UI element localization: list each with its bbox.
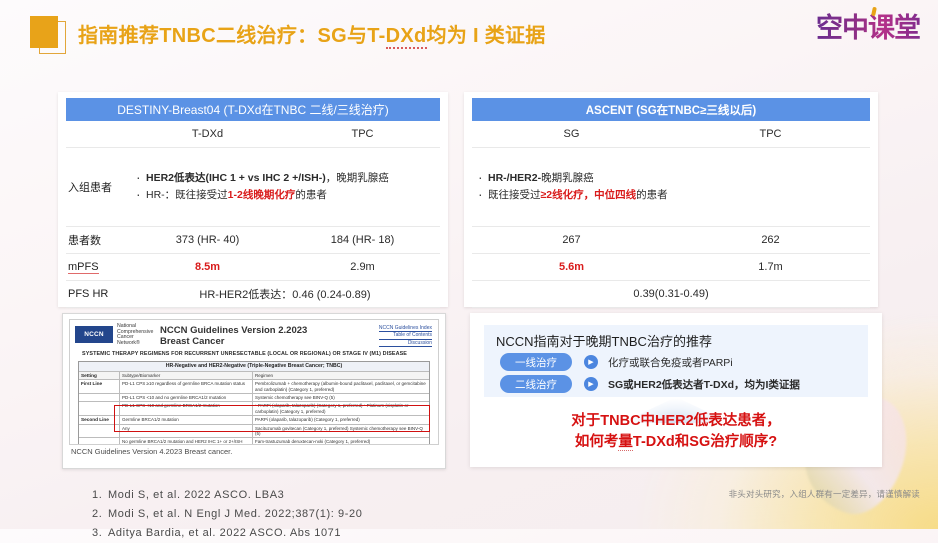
criteria-list: HER2低表达(IHC 1 + vs IHC 2 +/ISH-)，晚期乳腺癌 H… xyxy=(130,168,440,206)
cell-regimen: Systemic chemotherapy see BINV-Q (5) xyxy=(253,394,429,401)
nccn-regimen-table: HR-Negative and HER2-Negative (Triple-Ne… xyxy=(78,361,430,445)
recommendation-panel: NCCN指南对于晚期TNBC治疗的推荐 一线治疗 ▶ 化疗或联合免疫或者PARP… xyxy=(484,325,868,397)
table-row: PD-L1 CPS <10 and germline BRCA1/2 mutat… xyxy=(79,402,429,416)
cell-value-spanning: 0.39(0.31-0.49) xyxy=(472,281,870,307)
pill-second-line[interactable]: 二线治疗 xyxy=(500,375,572,393)
table-row: First Line PD-L1 CPS ≥10 regardless of g… xyxy=(79,380,429,394)
arrow-right-icon: ▶ xyxy=(584,377,598,391)
nccn-doc-title: NCCN Guidelines Version 2.2023 Breast Ca… xyxy=(160,325,307,347)
criteria-tail: 的患者 xyxy=(636,189,668,201)
list-item: HR-：既往接受过1-2线晚期化疗的患者 xyxy=(134,187,440,204)
criteria-bold-lead: HR-/HER2- xyxy=(488,172,541,184)
list-item: 1.Modi S, et al. 2022 ASCO. LBA3 xyxy=(92,486,512,505)
recommendation-text-second-line: SG或HER2低表达者T-DXd，均为I类证据 xyxy=(608,377,800,392)
cell-value: 373 (HR- 40) xyxy=(130,227,285,253)
disclaimer-text: 非头对头研究，入组人群有一定差异，请谨慎解读 xyxy=(729,488,920,500)
cell-value: 184 (HR- 18) xyxy=(285,227,440,253)
table-row: HR-/HER2-晚期乳腺癌 既往接受过≥2线化疗，中位四线的患者 xyxy=(472,148,870,227)
slide-root: 指南推荐TNBC二线治疗：SG与T-DXd均为 I 类证据 空中课堂 DESTI… xyxy=(0,0,938,529)
criteria-label: 入组患者 xyxy=(66,152,130,222)
cell-regimen: Pembrolizumab + chemotherapy (albumin-bo… xyxy=(253,380,429,393)
row-label-patients: 患者数 xyxy=(66,227,130,253)
cell-setting: First Line xyxy=(79,380,120,393)
cell-biomarker: No germline BRCA1/2 mutation and HER2 IH… xyxy=(120,438,253,445)
row-label-mpfs: mPFS xyxy=(66,254,130,280)
table-row: T-DXd TPC xyxy=(66,121,440,148)
key-question-line2-post: T-DXd和SG治疗顺序? xyxy=(633,434,777,450)
table-row: HR-Negative and HER2-Negative (Triple-Ne… xyxy=(79,362,429,372)
criteria-rest: 晚期乳腺癌 xyxy=(541,172,594,184)
cell-setting xyxy=(79,402,120,415)
logo-text: 空中课堂 xyxy=(816,6,924,50)
table-header-destiny: DESTINY-Breast04 (T-DXd在TNBC 二线/三线治疗) xyxy=(66,98,440,121)
nccn-section-banner: SYSTEMIC THERAPY REGIMENS FOR RECURRENT … xyxy=(82,351,430,357)
key-question-line2-pre: 如何考 xyxy=(575,434,619,450)
arrow-right-icon: ▶ xyxy=(584,355,598,369)
reference-text: Modi S, et al. N Engl J Med. 2022;387(1)… xyxy=(108,508,362,520)
nccn-guideline-screenshot: NCCN NationalComprehensiveCancerNetwork®… xyxy=(62,313,446,469)
table-row: PD-L1 CPS <10 and no germline BRCA1/2 mu… xyxy=(79,394,429,402)
list-item: 3.Aditya Bardia, et al. 2022 ASCO. Abs 1… xyxy=(92,524,512,543)
page-title-part2: 均为 I 类证据 xyxy=(427,25,546,47)
cell-biomarker: PD-L1 CPS <10 and no germline BRCA1/2 mu… xyxy=(120,394,253,401)
cell-setting xyxy=(79,425,120,438)
reference-list: 1.Modi S, et al. 2022 ASCO. LBA3 2.Modi … xyxy=(52,486,512,543)
cell-regimen: • PARPi (olaparib, talazoparib) (Categor… xyxy=(253,402,429,415)
nccn-link-index[interactable]: NCCN Guidelines Index xyxy=(379,325,432,332)
nccn-logo: NCCN xyxy=(75,326,113,343)
arm-header-1: T-DXd xyxy=(130,121,285,147)
nccn-link-discussion[interactable]: Discussion xyxy=(379,340,432,347)
table-row: Setting Subtype/Biomarker Regimen xyxy=(79,372,429,380)
table-row: PFS HR HR-HER2低表达：0.46 (0.24-0.89) xyxy=(66,281,440,308)
table-body-destiny: T-DXd TPC 入组患者 HER2低表达(IHC 1 + vs IHC 2 … xyxy=(66,121,440,334)
table-row: No germline BRCA1/2 mutation and HER2 IH… xyxy=(79,438,429,445)
criteria-list: HR-/HER2-晚期乳腺癌 既往接受过≥2线化疗，中位四线的患者 xyxy=(472,168,870,206)
table-row: 患者数 373 (HR- 40) 184 (HR- 18) xyxy=(66,227,440,254)
nccn-doc-title-line2: Breast Cancer xyxy=(160,336,224,347)
nccn-org-name: NationalComprehensiveCancerNetwork® xyxy=(117,324,153,346)
page-title-part1: 指南推荐TNBC二线治疗：SG与T- xyxy=(78,25,386,47)
table-row: 入组患者 HER2低表达(IHC 1 + vs IHC 2 +/ISH-)，晚期… xyxy=(66,148,440,227)
key-question: 对于TNBC中HER2低表达患者， 如何考量T-DXd和SG治疗顺序? xyxy=(470,411,882,453)
nccn-document-page: NCCN NationalComprehensiveCancerNetwork®… xyxy=(69,319,439,445)
cell-regimen: Fam-trastuzumab deruxtecan-nxki (Categor… xyxy=(253,438,429,445)
slide-header: 指南推荐TNBC二线治疗：SG与T-DXd均为 I 类证据 空中课堂 xyxy=(0,0,938,62)
recommendation-text-first-line: 化疗或联合免疫或者PARPi xyxy=(608,355,733,370)
criteria-plain-lead: HR-：既往接受过 xyxy=(146,189,228,201)
recommendation-title: NCCN指南对于晚期TNBC治疗的推荐 xyxy=(496,331,712,350)
list-item: HER2低表达(IHC 1 + vs IHC 2 +/ISH-)，晚期乳腺癌 xyxy=(134,170,440,187)
table-destiny-breast04: DESTINY-Breast04 (T-DXd在TNBC 二线/三线治疗) T-… xyxy=(58,92,448,307)
cell-value-spanning: HR-HER2低表达：0.46 (0.24-0.89) xyxy=(130,281,440,307)
table-body-ascent: SG TPC HR-/HER2-晚期乳腺癌 既往接受过≥2线化疗，中位四线的患者… xyxy=(472,121,870,334)
row-label-pfs-hr: PFS HR xyxy=(66,281,130,307)
cell-biomarker: PD-L1 CPS ≥10 regardless of germline BRC… xyxy=(120,380,253,393)
cell-biomarker: PD-L1 CPS <10 and germline BRCA1/2 mutat… xyxy=(120,402,253,415)
table-row: 267 262 xyxy=(472,227,870,254)
nccn-doc-title-line1: NCCN Guidelines Version 2.2023 xyxy=(160,325,307,336)
criteria-highlight: 1-2线晚期化疗 xyxy=(228,189,296,201)
cell-setting xyxy=(79,394,120,401)
brand-logo: 空中课堂 xyxy=(816,6,924,52)
cell-setting xyxy=(79,438,120,445)
square-filled-shape xyxy=(30,16,58,48)
cell-value-highlight: 8.5m xyxy=(130,254,285,280)
list-item: 既往接受过≥2线化疗，中位四线的患者 xyxy=(476,187,870,204)
key-question-line2-underlined: 量 xyxy=(618,434,633,451)
reference-text: Modi S, et al. 2022 ASCO. LBA3 xyxy=(108,489,284,501)
reference-number: 3. xyxy=(92,524,108,543)
table-row: 5.6m 1.7m xyxy=(472,254,870,281)
table-row: Second Line Germline BRCA1/2 mutation PA… xyxy=(79,416,429,424)
arm-header-2: TPC xyxy=(671,121,870,147)
criteria-tail: 的患者 xyxy=(295,189,327,201)
table-ascent: ASCENT (SG在TNBC≥三线以后) SG TPC HR-/HER2-晚期… xyxy=(464,92,878,307)
nccn-table-title: HR-Negative and HER2-Negative (Triple-Ne… xyxy=(79,362,429,371)
cell-value: 262 xyxy=(671,227,870,253)
table-row: 0.39(0.31-0.49) xyxy=(472,281,870,308)
col-header-biomarker: Subtype/Biomarker xyxy=(120,372,253,379)
arm-header-2: TPC xyxy=(285,121,440,147)
cell-value: 1.7m xyxy=(671,254,870,280)
title-square-marker-icon xyxy=(30,16,64,52)
cell-setting: Second Line xyxy=(79,416,120,423)
cell-value: 267 xyxy=(472,227,671,253)
cell-regimen: Sacituzumab govitecan (Category 1, prefe… xyxy=(253,425,429,438)
criteria-rest: ，晚期乳腺癌 xyxy=(326,172,389,184)
nccn-caption: NCCN Guidelines Version 4.2023 Breast ca… xyxy=(71,447,232,456)
page-title: 指南推荐TNBC二线治疗：SG与T-DXd均为 I 类证据 xyxy=(78,19,546,48)
table-row: mPFS 8.5m 2.9m xyxy=(66,254,440,281)
cell-biomarker: Any xyxy=(120,425,253,438)
pill-first-line[interactable]: 一线治疗 xyxy=(500,353,572,371)
cell-biomarker: Germline BRCA1/2 mutation xyxy=(120,416,253,423)
page-title-underlined: DXd xyxy=(386,25,427,49)
criteria-highlight: ≥2线化疗，中位四线 xyxy=(541,189,637,201)
cell-value-highlight: 5.6m xyxy=(472,254,671,280)
table-row: SG TPC xyxy=(472,121,870,148)
cell-regimen: PARPi (olaparib, talazoparib) (Category … xyxy=(253,416,429,423)
nccn-link-toc[interactable]: Table of Contents xyxy=(379,332,432,339)
reference-number: 1. xyxy=(92,486,108,505)
criteria-plain-lead: 既往接受过 xyxy=(488,189,541,201)
col-header-setting: Setting xyxy=(79,372,120,379)
table-row: Any Sacituzumab govitecan (Category 1, p… xyxy=(79,425,429,439)
table-header-ascent: ASCENT (SG在TNBC≥三线以后) xyxy=(472,98,870,121)
arm-header-1: SG xyxy=(472,121,671,147)
key-question-line1: 对于TNBC中HER2低表达患者， xyxy=(571,413,780,429)
col-header-regimen: Regimen xyxy=(253,372,429,379)
row-label-text: mPFS xyxy=(68,261,99,274)
cell-value: 2.9m xyxy=(285,254,440,280)
nccn-recommendation-card: NCCN指南对于晚期TNBC治疗的推荐 一线治疗 ▶ 化疗或联合免疫或者PARP… xyxy=(470,313,882,467)
reference-number: 2. xyxy=(92,505,108,524)
list-item: 2.Modi S, et al. N Engl J Med. 2022;387(… xyxy=(92,505,512,524)
list-item: HR-/HER2-晚期乳腺癌 xyxy=(476,170,870,187)
row-label-spacer xyxy=(66,121,130,147)
criteria-bold-lead: HER2低表达(IHC 1 + vs IHC 2 +/ISH-) xyxy=(146,172,326,184)
nccn-doc-links: NCCN Guidelines Index Table of Contents … xyxy=(379,325,432,347)
